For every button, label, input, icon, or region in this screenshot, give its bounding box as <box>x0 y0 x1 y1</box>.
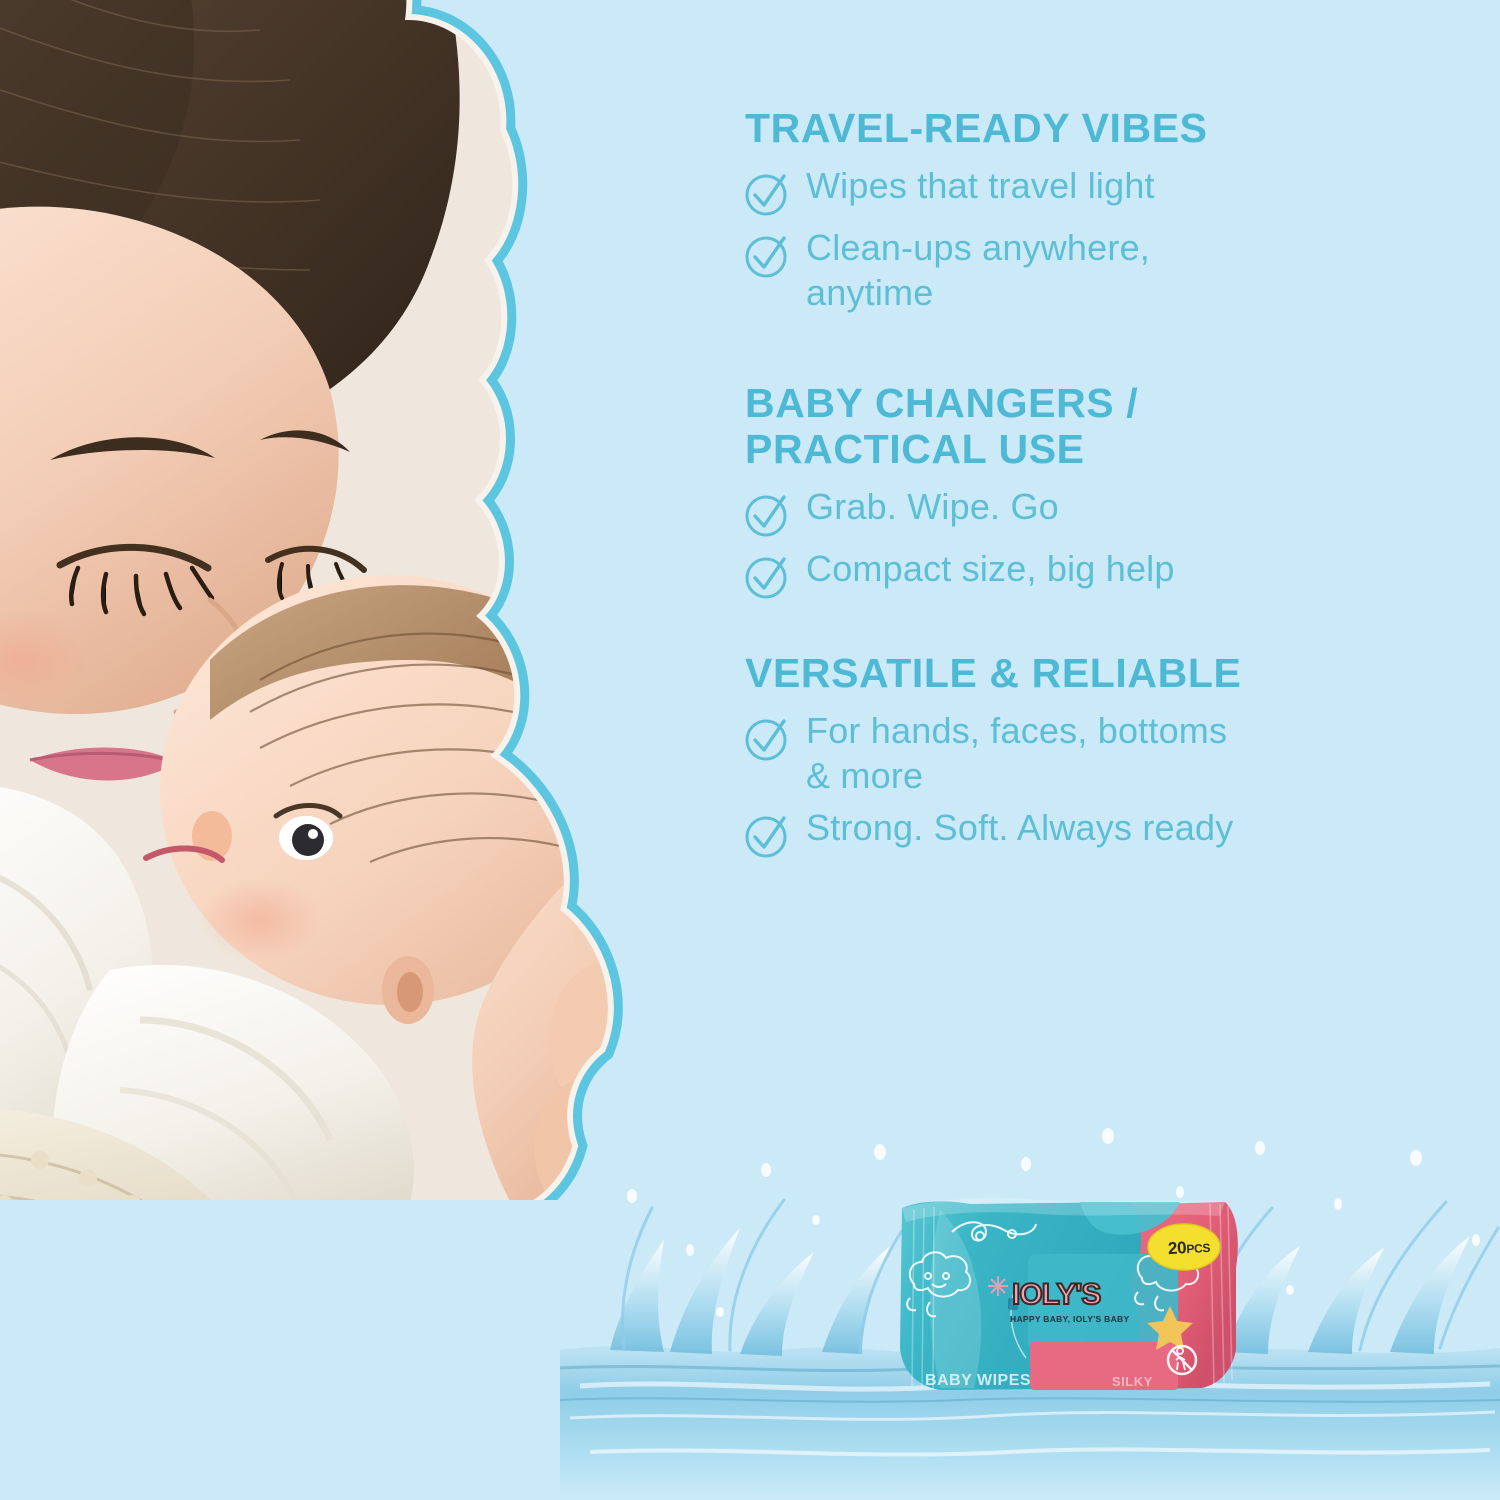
package-pink-tab <box>1030 1342 1178 1390</box>
feature-list: TRAVEL-READY VIBES Wipes that travel lig… <box>742 106 1442 868</box>
section-spacer <box>742 609 1442 651</box>
check-circle-icon <box>742 713 792 763</box>
list-item-label: Strong. Soft. Always ready <box>792 806 1233 851</box>
sparkle-icon <box>988 1276 1008 1296</box>
section-versatile-reliable: VERSATILE & RELIABLE For hands, faces, b… <box>742 651 1442 860</box>
list-item-label: Grab. Wipe. Go <box>792 485 1059 530</box>
check-circle-icon <box>742 168 792 218</box>
list-item: Wipes that travel light <box>742 164 1442 218</box>
bullet-list: Wipes that travel light Clean-ups anywhe… <box>742 164 1442 315</box>
bullet-list: Grab. Wipe. Go Compact size, big help <box>742 485 1442 601</box>
product-infographic: TRAVEL-READY VIBES Wipes that travel lig… <box>0 0 1500 1500</box>
section-heading: TRAVEL-READY VIBES <box>745 106 1442 152</box>
list-item: Strong. Soft. Always ready <box>742 806 1442 860</box>
list-item-label: Compact size, big help <box>792 547 1175 592</box>
brand-logo-text: IOLY'S <box>1012 1278 1100 1312</box>
mother-and-baby-photo-panel <box>0 0 720 1200</box>
check-circle-icon <box>742 489 792 539</box>
package-bottom-label: BABY WIPES <box>925 1372 1031 1390</box>
check-circle-icon <box>742 551 792 601</box>
check-circle-icon <box>742 230 792 280</box>
bullet-list: For hands, faces, bottoms & more Strong.… <box>742 709 1442 860</box>
list-item: For hands, faces, bottoms & more <box>742 709 1442 798</box>
section-heading: BABY CHANGERS / PRACTICAL USE <box>745 381 1442 473</box>
list-item: Grab. Wipe. Go <box>742 485 1442 539</box>
list-item-label: Wipes that travel light <box>792 164 1155 209</box>
list-item: Clean-ups anywhere, anytime <box>742 226 1442 315</box>
mother-and-baby-photo <box>0 0 720 1200</box>
section-travel-ready-vibes: TRAVEL-READY VIBES Wipes that travel lig… <box>742 106 1442 315</box>
section-spacer <box>742 323 1442 381</box>
check-circle-icon <box>742 810 792 860</box>
list-item: Compact size, big help <box>742 547 1442 601</box>
package-bottom-label-right: SILKY <box>1112 1374 1153 1389</box>
section-heading: VERSATILE & RELIABLE <box>745 651 1442 697</box>
list-item-label: Clean-ups anywhere, anytime <box>792 226 1150 315</box>
list-item-label: For hands, faces, bottoms & more <box>792 709 1227 798</box>
brand-tagline: HAPPY BABY, IOLY'S BABY <box>1010 1314 1129 1324</box>
section-baby-changers-practical-use: BABY CHANGERS / PRACTICAL USE Grab. Wipe… <box>742 381 1442 601</box>
